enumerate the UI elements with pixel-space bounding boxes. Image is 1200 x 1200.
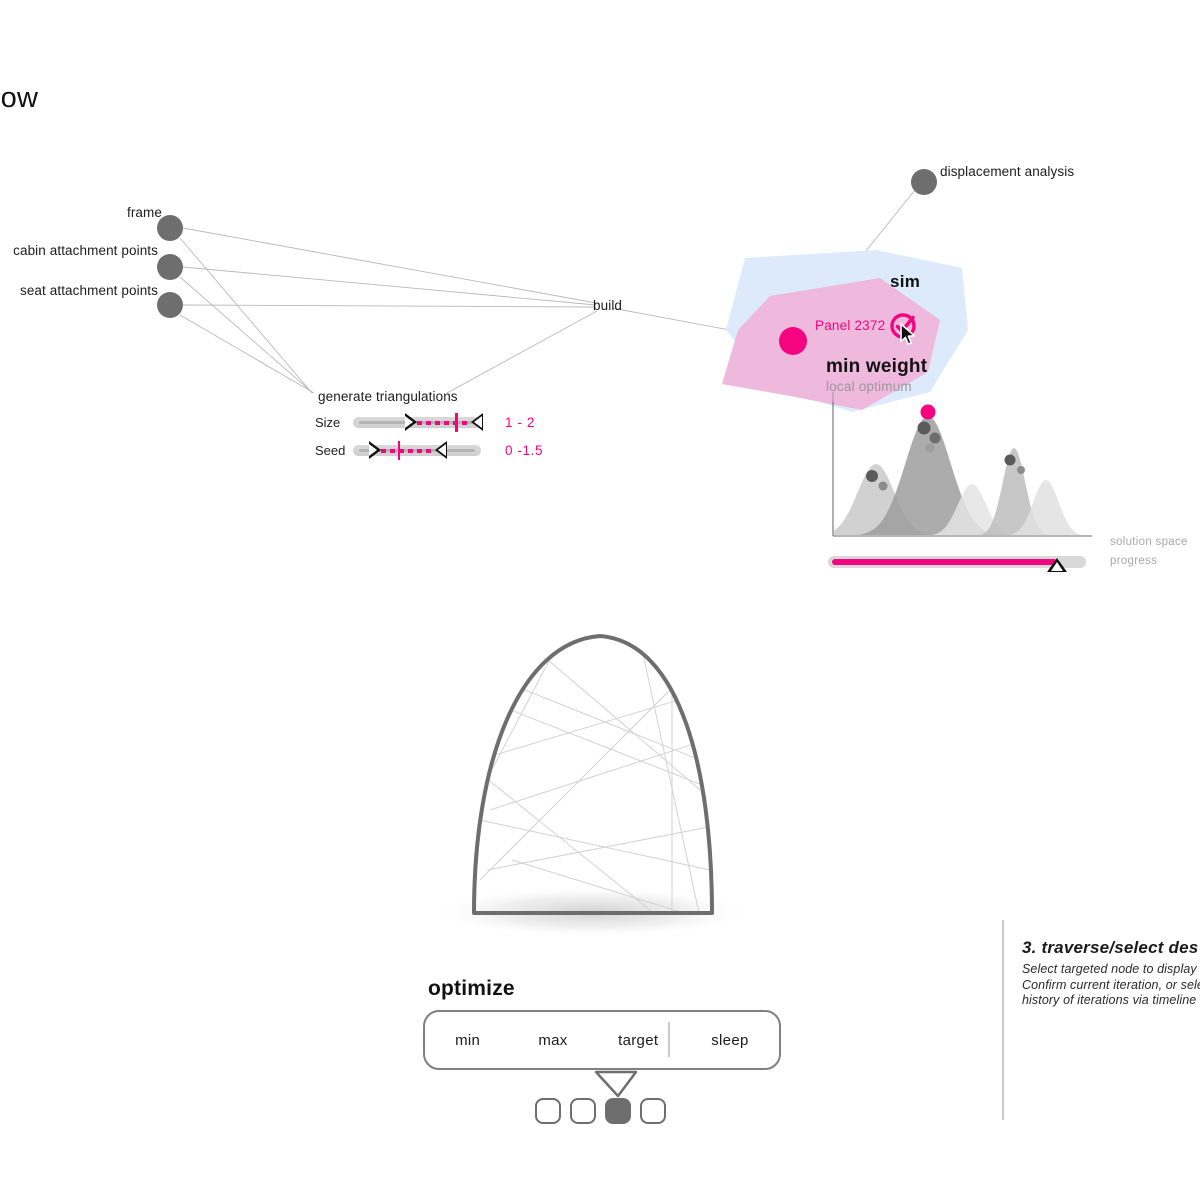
progress-handle-icon[interactable] <box>1047 558 1067 572</box>
param-label-seed: Seed <box>315 443 353 458</box>
annotation-divider <box>1002 920 1004 1120</box>
annotation-body: Select targeted node to display Confirm … <box>1022 962 1200 1009</box>
graph-node-cabin-attachment-points[interactable] <box>157 254 183 280</box>
solution-space-label: solution space <box>1110 536 1188 548</box>
optimize-mode-group[interactable]: min max target sleep <box>423 1010 781 1070</box>
graph-node-selected-panel[interactable] <box>779 327 807 355</box>
optimize-mode-max[interactable]: max <box>510 1032 595 1049</box>
timeline-step-4[interactable] <box>640 1098 666 1124</box>
param-track-size[interactable] <box>353 417 481 428</box>
param-range-fill <box>417 421 471 425</box>
param-tick-marker <box>455 413 458 432</box>
optimize-mode-min[interactable]: min <box>425 1032 510 1049</box>
mouse-pointer-icon <box>899 323 919 347</box>
canvas: low <box>0 0 1200 1200</box>
graph-node-label-seat-attachment-points: seat attachment points <box>20 283 158 298</box>
timeline-step-2[interactable] <box>570 1098 596 1124</box>
graph-node-label-generate-triangulations[interactable]: generate triangulations <box>318 389 458 404</box>
objective-state: local optimum <box>826 379 912 394</box>
graph-node-seat-attachment-points[interactable] <box>157 292 183 318</box>
optimize-mode-divider <box>668 1022 670 1057</box>
timeline-step-1[interactable] <box>535 1098 561 1124</box>
param-handle-high-icon[interactable] <box>471 413 483 431</box>
graph-node-displacement-analysis[interactable] <box>911 169 937 195</box>
graph-node-label-cabin-attachment-points: cabin attachment points <box>13 243 158 258</box>
graph-node-label-frame: frame <box>127 205 162 220</box>
progress-fill <box>832 559 1057 565</box>
progress-slider[interactable] <box>828 556 1086 568</box>
param-value-seed: 0 -1.5 <box>505 443 543 458</box>
param-range-fill <box>381 449 435 453</box>
sim-region-title: sim <box>890 272 920 292</box>
optimize-mode-sleep[interactable]: sleep <box>681 1032 779 1049</box>
param-label-size: Size <box>315 415 353 430</box>
optimize-title: optimize <box>428 977 515 1001</box>
param-track-seed[interactable] <box>353 445 481 456</box>
progress-label: progress <box>1110 555 1157 567</box>
annotation-heading: 3. traverse/select des <box>1022 938 1198 958</box>
graph-node-label-displacement-analysis: displacement analysis <box>940 164 1074 179</box>
param-tick-marker <box>398 441 401 460</box>
param-value-size: 1 - 2 <box>505 415 535 430</box>
param-slider-seed[interactable]: Seed 0 -1.5 <box>315 443 543 458</box>
timeline-step-3[interactable] <box>605 1098 631 1124</box>
graph-node-label-build[interactable]: build <box>593 298 622 313</box>
param-handle-high-icon[interactable] <box>435 441 447 459</box>
selected-panel-id: Panel 2372 <box>815 318 885 333</box>
param-handle-low-icon[interactable] <box>369 441 381 459</box>
param-slider-size[interactable]: Size 1 - 2 <box>315 415 535 430</box>
param-handle-low-icon[interactable] <box>405 413 417 431</box>
objective-title: min weight <box>826 356 927 378</box>
